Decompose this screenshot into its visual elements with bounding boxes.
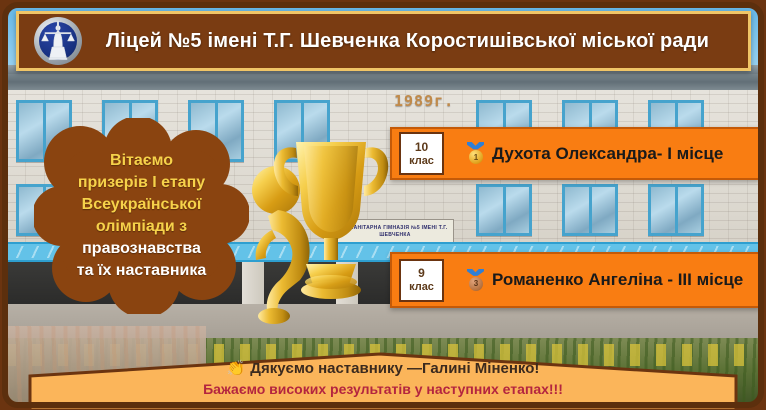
- footer-thanks-row: 👏 Дякуємо наставнику —Галині Міненко!: [0, 360, 766, 377]
- grade-label: клас: [409, 154, 434, 168]
- winner-banner-third-place[interactable]: 9 клас 3 Романенко Ангеліна - III місце: [390, 252, 760, 308]
- callout-line-3: Всеукраїнської: [82, 194, 202, 216]
- winner-banner-first-place[interactable]: 10 клас 1 Духота Олександра- I місце: [390, 127, 760, 180]
- grade-number: 9: [418, 266, 425, 280]
- callout-line-1: Вітаємо: [110, 150, 173, 172]
- clapping-hands-icon: 👏: [227, 361, 246, 376]
- callout-line-6: та їх наставника: [77, 260, 206, 282]
- trophy-with-figure-graphic: [238, 112, 408, 332]
- justice-scales-emblem-icon: [31, 14, 85, 68]
- callout-text: Вітаємо призерів I етапу Всеукраїнської …: [34, 118, 249, 314]
- bronze-medal-icon: 3: [466, 269, 485, 292]
- medal-rank: 1: [469, 150, 483, 164]
- callout-line-4: олімпіади з: [96, 216, 187, 238]
- footer-wish-text: Бажаємо високих результатів у наступних …: [0, 381, 766, 397]
- window: [476, 184, 532, 236]
- window: [562, 184, 618, 236]
- winner-name: Духота Олександра- I місце: [492, 144, 723, 164]
- callout-line-5: правознавства: [82, 238, 201, 260]
- callout-line-2: призерів I етапу: [78, 172, 205, 194]
- grade-label: клас: [409, 280, 434, 294]
- building-year-text: 1989г.: [394, 92, 454, 110]
- grade-badge: 10 клас: [399, 132, 444, 175]
- winner-name: Романенко Ангеліна - III місце: [492, 270, 743, 290]
- header-bar: Ліцей №5 імені Т.Г. Шевченка Коростишівс…: [16, 11, 751, 71]
- page-title: Ліцей №5 імені Т.Г. Шевченка Коростишівс…: [85, 30, 748, 53]
- grade-badge: 9 клас: [399, 259, 444, 302]
- footer-thanks-text: Дякуємо наставнику —Галині Міненко!: [250, 360, 539, 377]
- gold-medal-icon: 1: [466, 142, 485, 165]
- window: [648, 184, 704, 236]
- winner-name-row: 3 Романенко Ангеліна - III місце: [444, 269, 758, 292]
- footer-banner: 👏 Дякуємо наставнику —Галині Міненко! Ба…: [0, 340, 766, 410]
- congratulations-callout: Вітаємо призерів I етапу Всеукраїнської …: [34, 118, 249, 314]
- winner-name-row: 1 Духота Олександра- I місце: [444, 142, 758, 165]
- medal-rank: 3: [469, 277, 483, 291]
- grade-number: 10: [415, 140, 428, 154]
- poster-stage: 1989г. ГУМАНІТАРНА ГІМНАЗІЯ №5 ІМЕНІ Т.Г…: [0, 0, 766, 410]
